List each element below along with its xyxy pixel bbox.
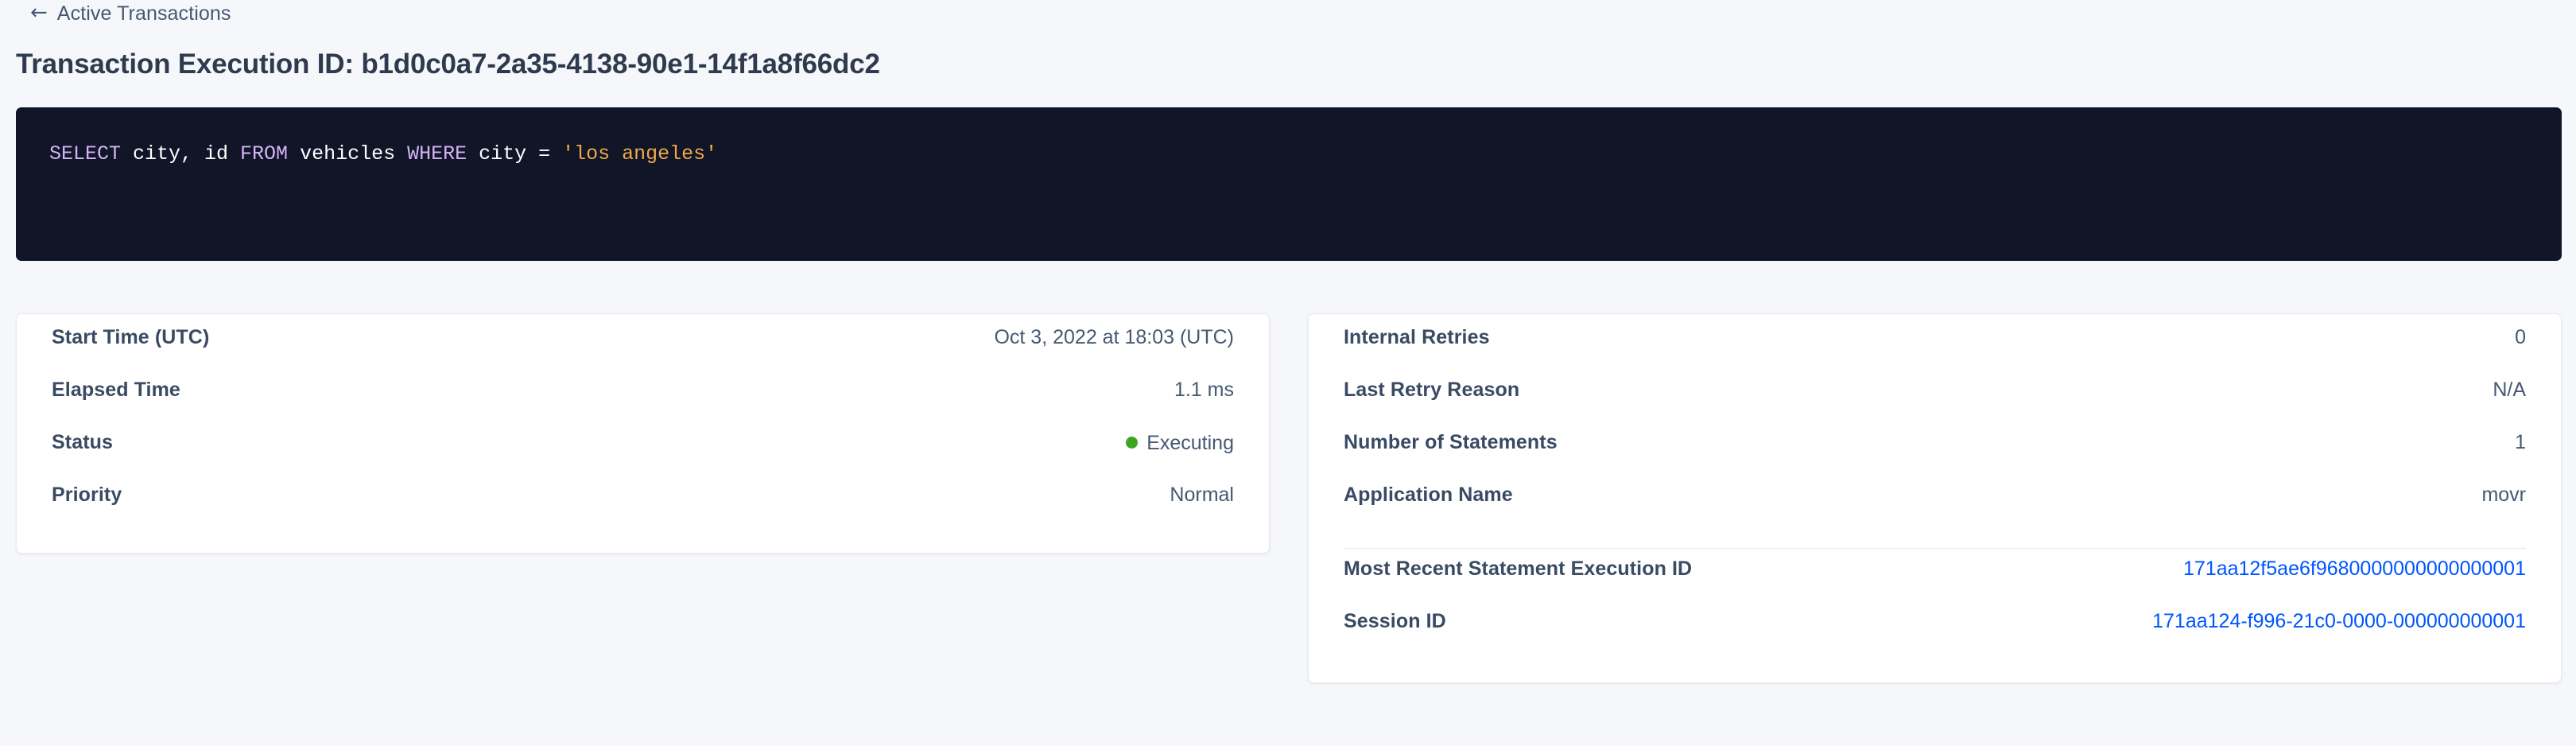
detail-row-status: Status Executing bbox=[52, 430, 1234, 483]
transaction-statistics-card: Internal Retries 0 Last Retry Reason N/A… bbox=[1308, 313, 2562, 683]
sql-code-block: SELECT city, id FROM vehicles WHERE city… bbox=[16, 107, 2562, 261]
sql-table-name: vehicles bbox=[288, 142, 407, 165]
detail-value: 0 bbox=[2515, 325, 2526, 349]
card-divider bbox=[1344, 548, 2526, 549]
detail-label: Start Time (UTC) bbox=[52, 325, 209, 349]
detail-value: movr bbox=[2481, 483, 2526, 507]
detail-value: N/A bbox=[2493, 378, 2526, 402]
detail-row-session-id: Session ID 171aa124-f996-21c0-0000-00000… bbox=[1344, 609, 2526, 662]
details-cards-row: Start Time (UTC) Oct 3, 2022 at 18:03 (U… bbox=[16, 313, 2562, 683]
detail-label: Number of Statements bbox=[1344, 430, 1558, 454]
sql-columns: city, id bbox=[121, 142, 240, 165]
statement-execution-id-link[interactable]: 171aa12f5ae6f9680000000000000001 bbox=[2183, 557, 2526, 581]
detail-label: Status bbox=[52, 430, 113, 454]
sql-keyword-where: WHERE bbox=[407, 142, 467, 165]
transaction-overview-card: Start Time (UTC) Oct 3, 2022 at 18:03 (U… bbox=[16, 313, 1270, 554]
detail-row-most-recent-statement-execution-id: Most Recent Statement Execution ID 171aa… bbox=[1344, 557, 2526, 609]
detail-row-priority: Priority Normal bbox=[52, 483, 1234, 535]
detail-row-number-of-statements: Number of Statements 1 bbox=[1344, 430, 2526, 483]
arrow-left-icon[interactable]: ← bbox=[30, 2, 48, 23]
detail-value: 1 bbox=[2515, 430, 2526, 454]
sql-predicate-column: city bbox=[467, 142, 538, 165]
status-dot-icon bbox=[1126, 437, 1138, 449]
sql-statement-line: SELECT city, id FROM vehicles WHERE city… bbox=[49, 142, 2528, 166]
breadcrumb[interactable]: ← Active Transactions bbox=[30, 3, 231, 24]
detail-label: Most Recent Statement Execution ID bbox=[1344, 557, 1692, 581]
status-text: Executing bbox=[1146, 431, 1234, 455]
detail-row-internal-retries: Internal Retries 0 bbox=[1344, 325, 2526, 378]
session-id-link[interactable]: 171aa124-f996-21c0-0000-000000000001 bbox=[2152, 609, 2526, 633]
detail-label: Priority bbox=[52, 483, 122, 507]
detail-label: Elapsed Time bbox=[52, 378, 180, 402]
page-title: Transaction Execution ID: b1d0c0a7-2a35-… bbox=[16, 48, 880, 81]
status-badge: Executing bbox=[1126, 431, 1234, 455]
detail-row-start-time: Start Time (UTC) Oct 3, 2022 at 18:03 (U… bbox=[52, 325, 1234, 378]
detail-row-application-name: Application Name movr bbox=[1344, 483, 2526, 535]
sql-keyword-from: FROM bbox=[240, 142, 288, 165]
detail-value: Normal bbox=[1170, 483, 1234, 507]
detail-label: Application Name bbox=[1344, 483, 1513, 507]
detail-value: 1.1 ms bbox=[1174, 378, 1234, 402]
detail-value: Oct 3, 2022 at 18:03 (UTC) bbox=[994, 325, 1234, 349]
detail-label: Internal Retries bbox=[1344, 325, 1490, 349]
sql-operator-equals: = bbox=[538, 142, 562, 165]
breadcrumb-link-active-transactions[interactable]: Active Transactions bbox=[57, 2, 231, 25]
detail-row-last-retry-reason: Last Retry Reason N/A bbox=[1344, 378, 2526, 430]
sql-keyword-select: SELECT bbox=[49, 142, 121, 165]
sql-string-literal: 'los angeles' bbox=[562, 142, 717, 165]
transaction-execution-details-page: ← Active Transactions Transaction Execut… bbox=[0, 0, 2576, 746]
detail-label: Last Retry Reason bbox=[1344, 378, 1519, 402]
detail-label: Session ID bbox=[1344, 609, 1446, 633]
detail-row-elapsed-time: Elapsed Time 1.1 ms bbox=[52, 378, 1234, 430]
